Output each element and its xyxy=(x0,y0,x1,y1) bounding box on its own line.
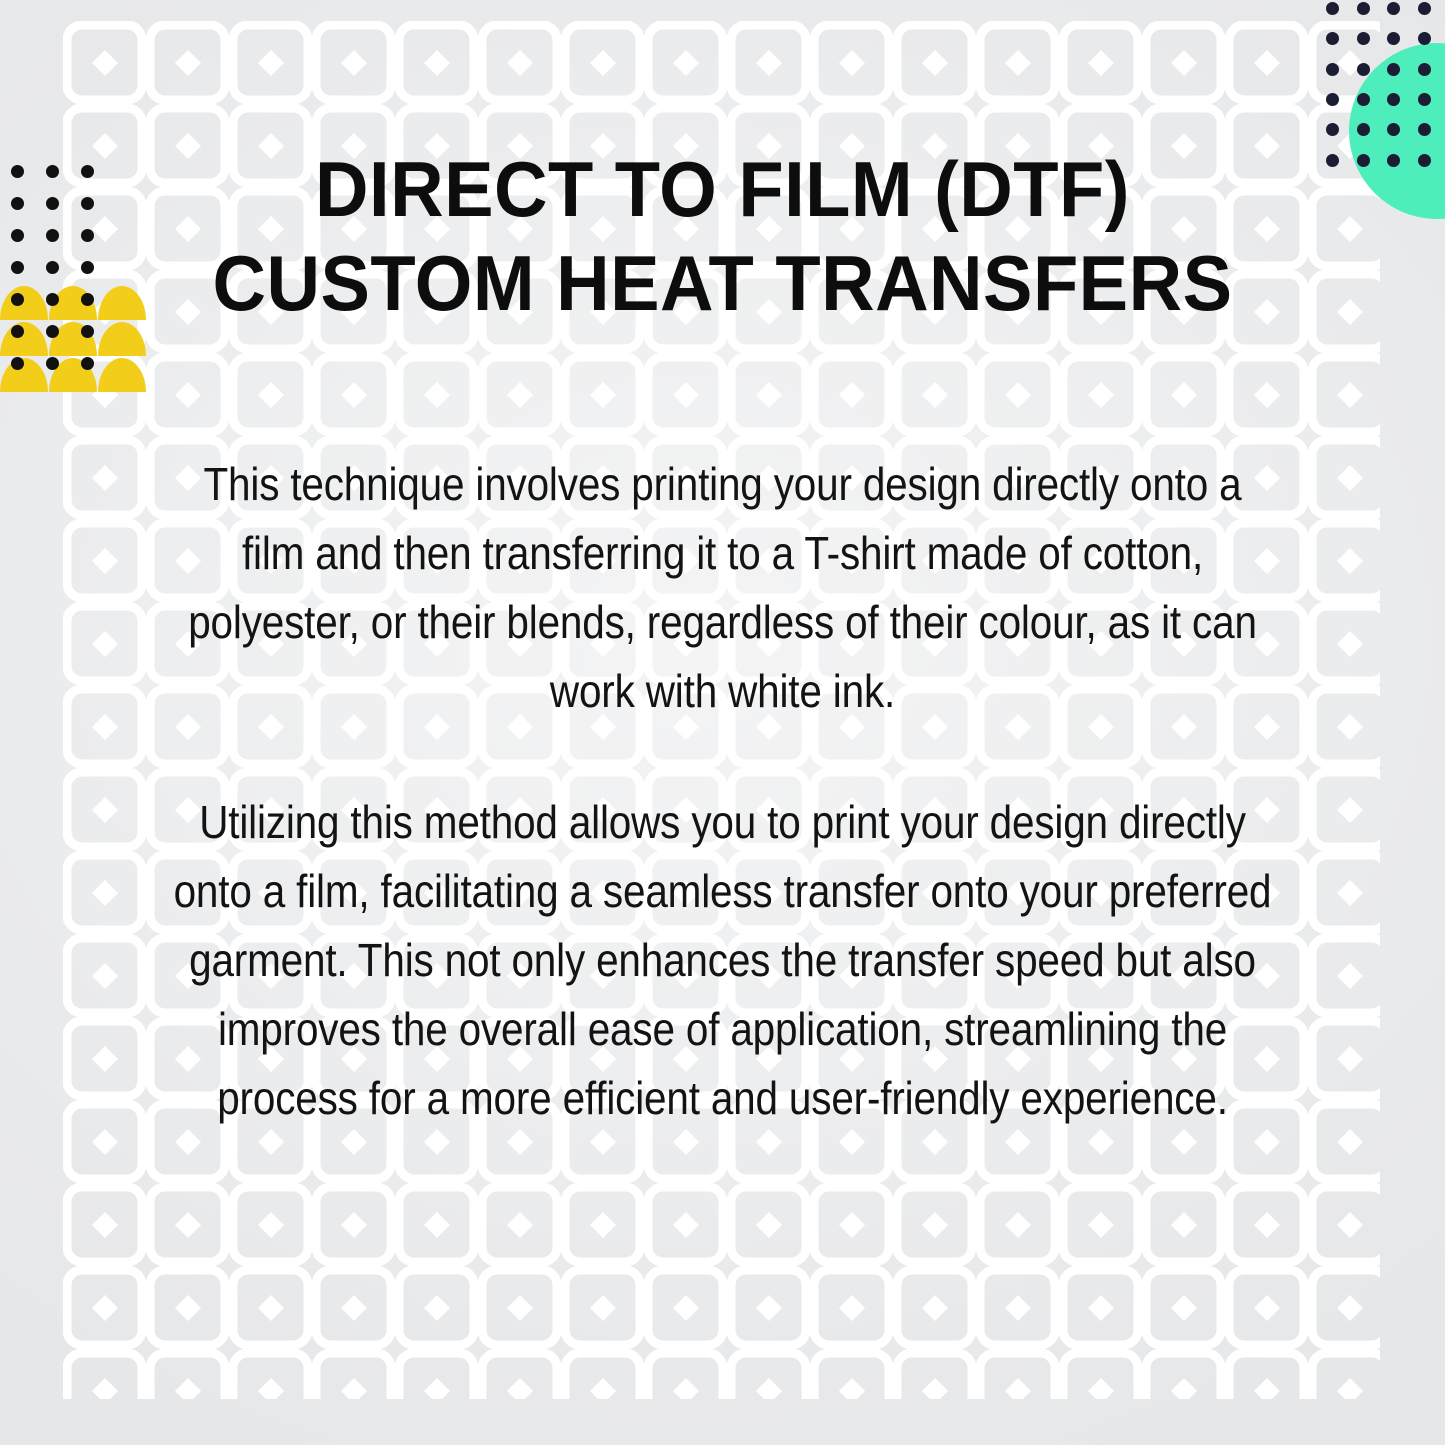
decorative-dot xyxy=(1387,63,1400,76)
decorative-dot xyxy=(1357,63,1370,76)
decorative-dot xyxy=(1418,123,1431,136)
decorative-dot xyxy=(1418,63,1431,76)
decorative-dot xyxy=(1387,93,1400,106)
decorative-dot xyxy=(81,357,94,370)
decorative-dot xyxy=(1357,93,1370,106)
decorative-dot xyxy=(1418,2,1431,15)
poster-body: This technique involves printing your de… xyxy=(95,450,1350,1133)
decorative-dot xyxy=(1357,123,1370,136)
body-paragraph-1: This technique involves printing your de… xyxy=(170,450,1274,726)
poster-canvas: DIRECT TO FILM (DTF) CUSTOM HEAT TRANSFE… xyxy=(0,0,1445,1445)
decorative-dot xyxy=(1418,32,1431,45)
decorative-dot xyxy=(1357,32,1370,45)
title-line-1: DIRECT TO FILM (DTF) xyxy=(36,142,1409,236)
decorative-dot xyxy=(1387,32,1400,45)
decorative-dot xyxy=(1418,93,1431,106)
decorative-dot xyxy=(1326,32,1339,45)
decorative-dot xyxy=(46,357,59,370)
decorative-dot xyxy=(1326,123,1339,136)
decorative-dot xyxy=(1357,2,1370,15)
decorative-dot xyxy=(1326,2,1339,15)
decorative-dot xyxy=(1326,93,1339,106)
decorative-dot xyxy=(1387,123,1400,136)
decorative-dot xyxy=(1326,63,1339,76)
decorative-dot xyxy=(11,357,24,370)
poster-title: DIRECT TO FILM (DTF) CUSTOM HEAT TRANSFE… xyxy=(0,142,1445,330)
decorative-dot xyxy=(1387,2,1400,15)
title-line-2: CUSTOM HEAT TRANSFERS xyxy=(36,236,1409,330)
body-paragraph-2: Utilizing this method allows you to prin… xyxy=(170,788,1274,1133)
